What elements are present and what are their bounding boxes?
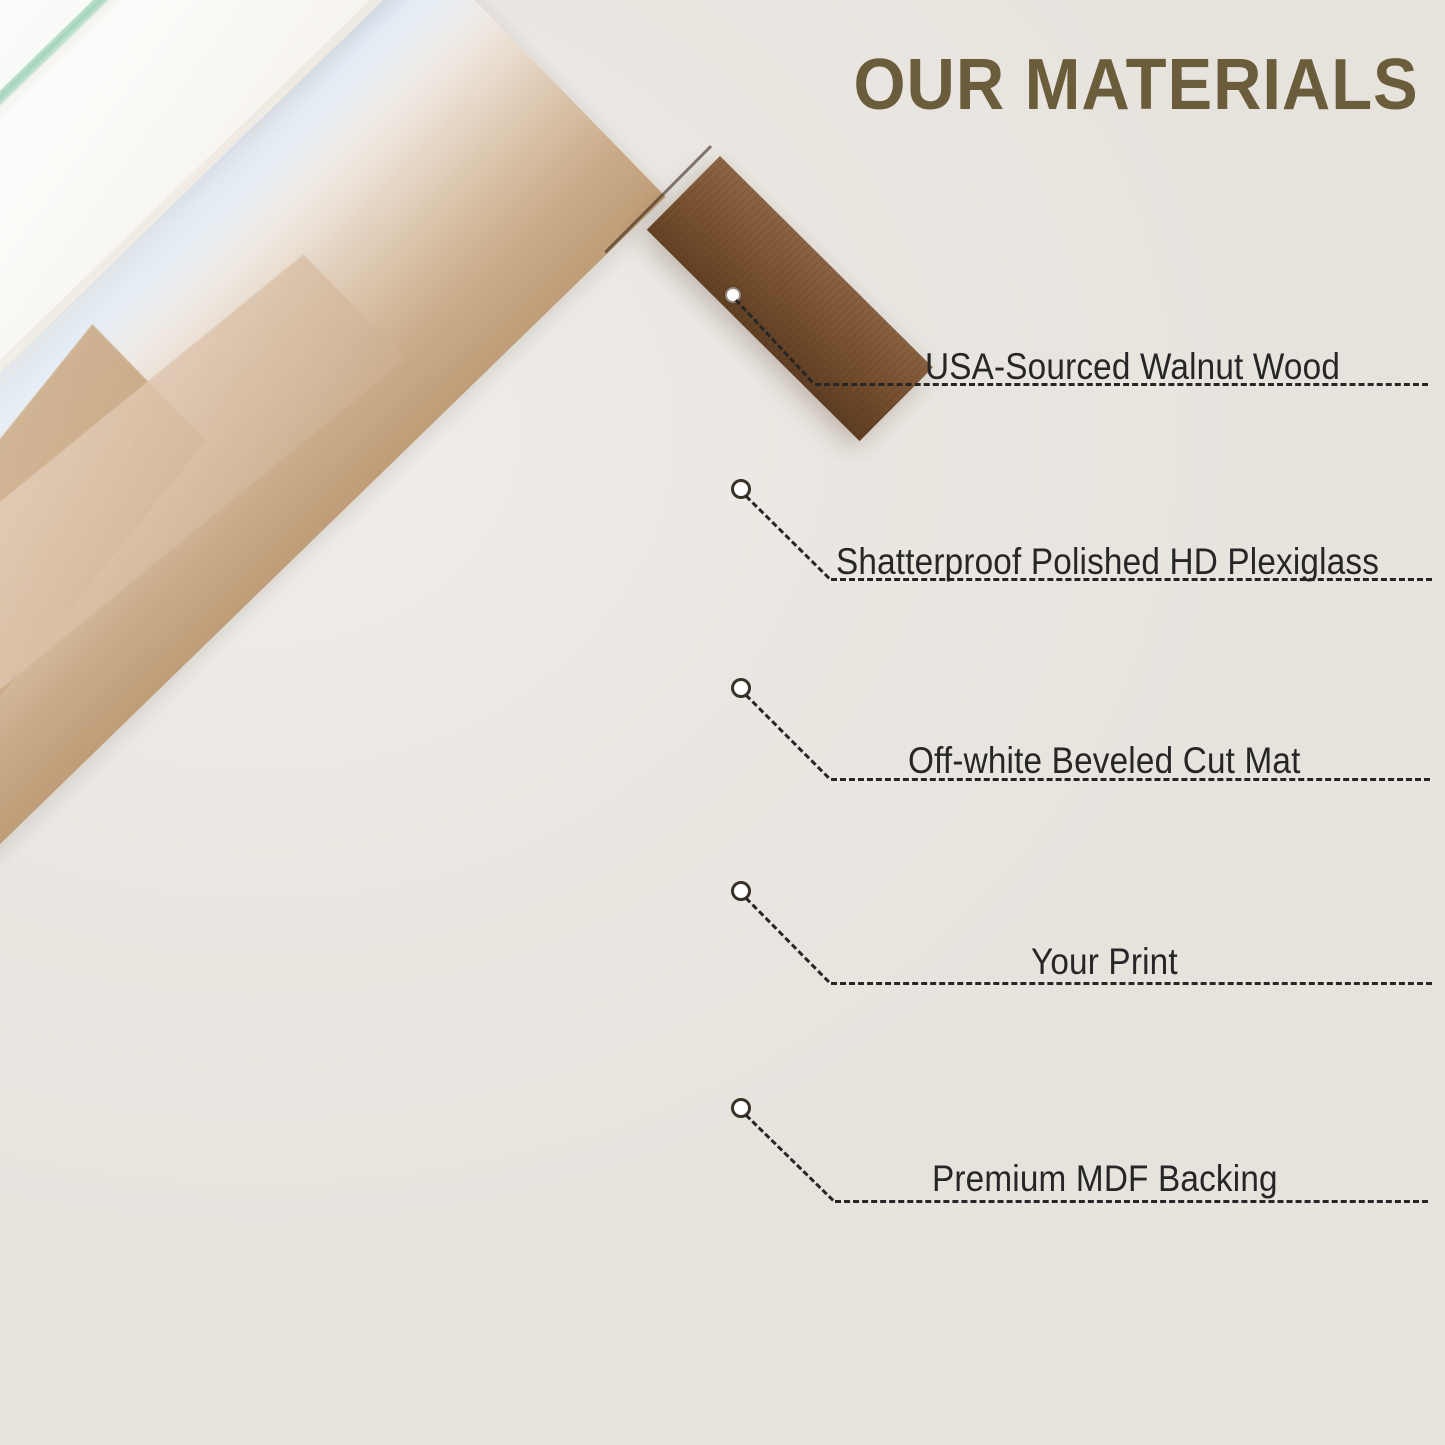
callout-label-your-print: Your Print — [1031, 941, 1178, 983]
callout-rule-mdf-backing — [835, 1200, 1428, 1203]
exploded-product-stack — [0, 0, 900, 1445]
frame-bar-return — [647, 156, 933, 441]
callout-label-plexiglass: Shatterproof Polished HD Plexiglass — [836, 541, 1379, 583]
callout-label-cut-mat: Off-white Beveled Cut Mat — [908, 740, 1301, 782]
callout-label-walnut-wood: USA-Sourced Walnut Wood — [925, 346, 1340, 388]
page-title: OUR MATERIALS — [854, 44, 1419, 126]
callout-label-mdf-backing: Premium MDF Backing — [932, 1158, 1278, 1200]
materials-infographic: OUR MATERIALS USA-Sourced Walnut Wood Sh… — [0, 0, 1445, 1445]
